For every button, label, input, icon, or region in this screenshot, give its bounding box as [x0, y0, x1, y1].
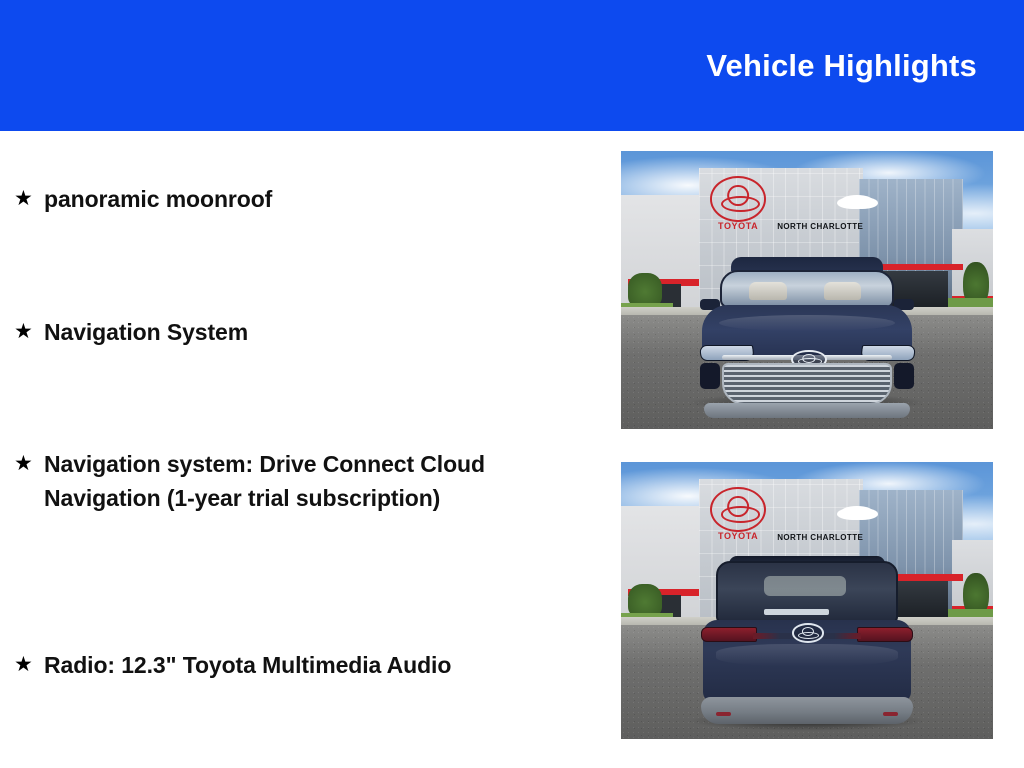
taillight [701, 627, 757, 642]
highlight-text: Navigation System [44, 315, 248, 349]
vehicle-front [695, 257, 918, 418]
vehicle-highlights-list: ★ panoramic moonroof ★ Navigation System… [0, 131, 600, 768]
dealer-name-sign: NORTH CHARLOTTE [777, 533, 863, 542]
seat [824, 282, 861, 300]
dealer-name-sign: NORTH CHARLOTTE [777, 222, 863, 231]
star-icon: ★ [14, 182, 44, 216]
roof [731, 257, 883, 272]
taillight [857, 627, 913, 642]
windshield [720, 270, 894, 309]
bumper-reflector [716, 712, 731, 716]
rear-bumper [701, 697, 912, 724]
seat [749, 282, 786, 300]
page-header: Vehicle Highlights [0, 0, 1024, 131]
rear-wiper [764, 609, 829, 614]
star-icon: ★ [14, 315, 44, 349]
star-icon: ★ [14, 648, 44, 682]
air-intake [894, 363, 914, 389]
page-title: Vehicle Highlights [706, 50, 977, 81]
vehicle-rear [699, 556, 915, 728]
bumper-reflector [883, 712, 898, 716]
dealership-scene: TOYOTA NORTH CHARLOTTE [621, 462, 993, 739]
list-item: ★ panoramic moonroof [14, 182, 574, 216]
toyota-wordmark: TOYOTA [703, 531, 774, 541]
dealership-scene: TOYOTA NORTH CHARLOTTE [621, 151, 993, 429]
vehicle-photo-front: TOYOTA NORTH CHARLOTTE [621, 151, 993, 429]
star-icon: ★ [14, 447, 44, 481]
toyota-emblem-icon [792, 623, 824, 642]
air-intake [700, 363, 720, 389]
toyota-logo-icon [710, 176, 766, 222]
content-area: ★ panoramic moonroof ★ Navigation System… [0, 131, 1024, 768]
list-item: ★ Navigation System [14, 315, 574, 349]
vehicle-photo-rear: TOYOTA NORTH CHARLOTTE [621, 462, 993, 739]
highlight-text: Radio: 12.3" Toyota Multimedia Audio [44, 648, 451, 682]
list-item: ★ Radio: 12.3" Toyota Multimedia Audio [14, 648, 574, 682]
highlight-text: Navigation system: Drive Connect Cloud N… [44, 447, 574, 515]
front-bumper [704, 403, 909, 418]
highlight-text: panoramic moonroof [44, 182, 272, 216]
toyota-wordmark: TOYOTA [703, 221, 774, 231]
list-item: ★ Navigation system: Drive Connect Cloud… [14, 447, 574, 515]
front-grille [722, 363, 892, 405]
